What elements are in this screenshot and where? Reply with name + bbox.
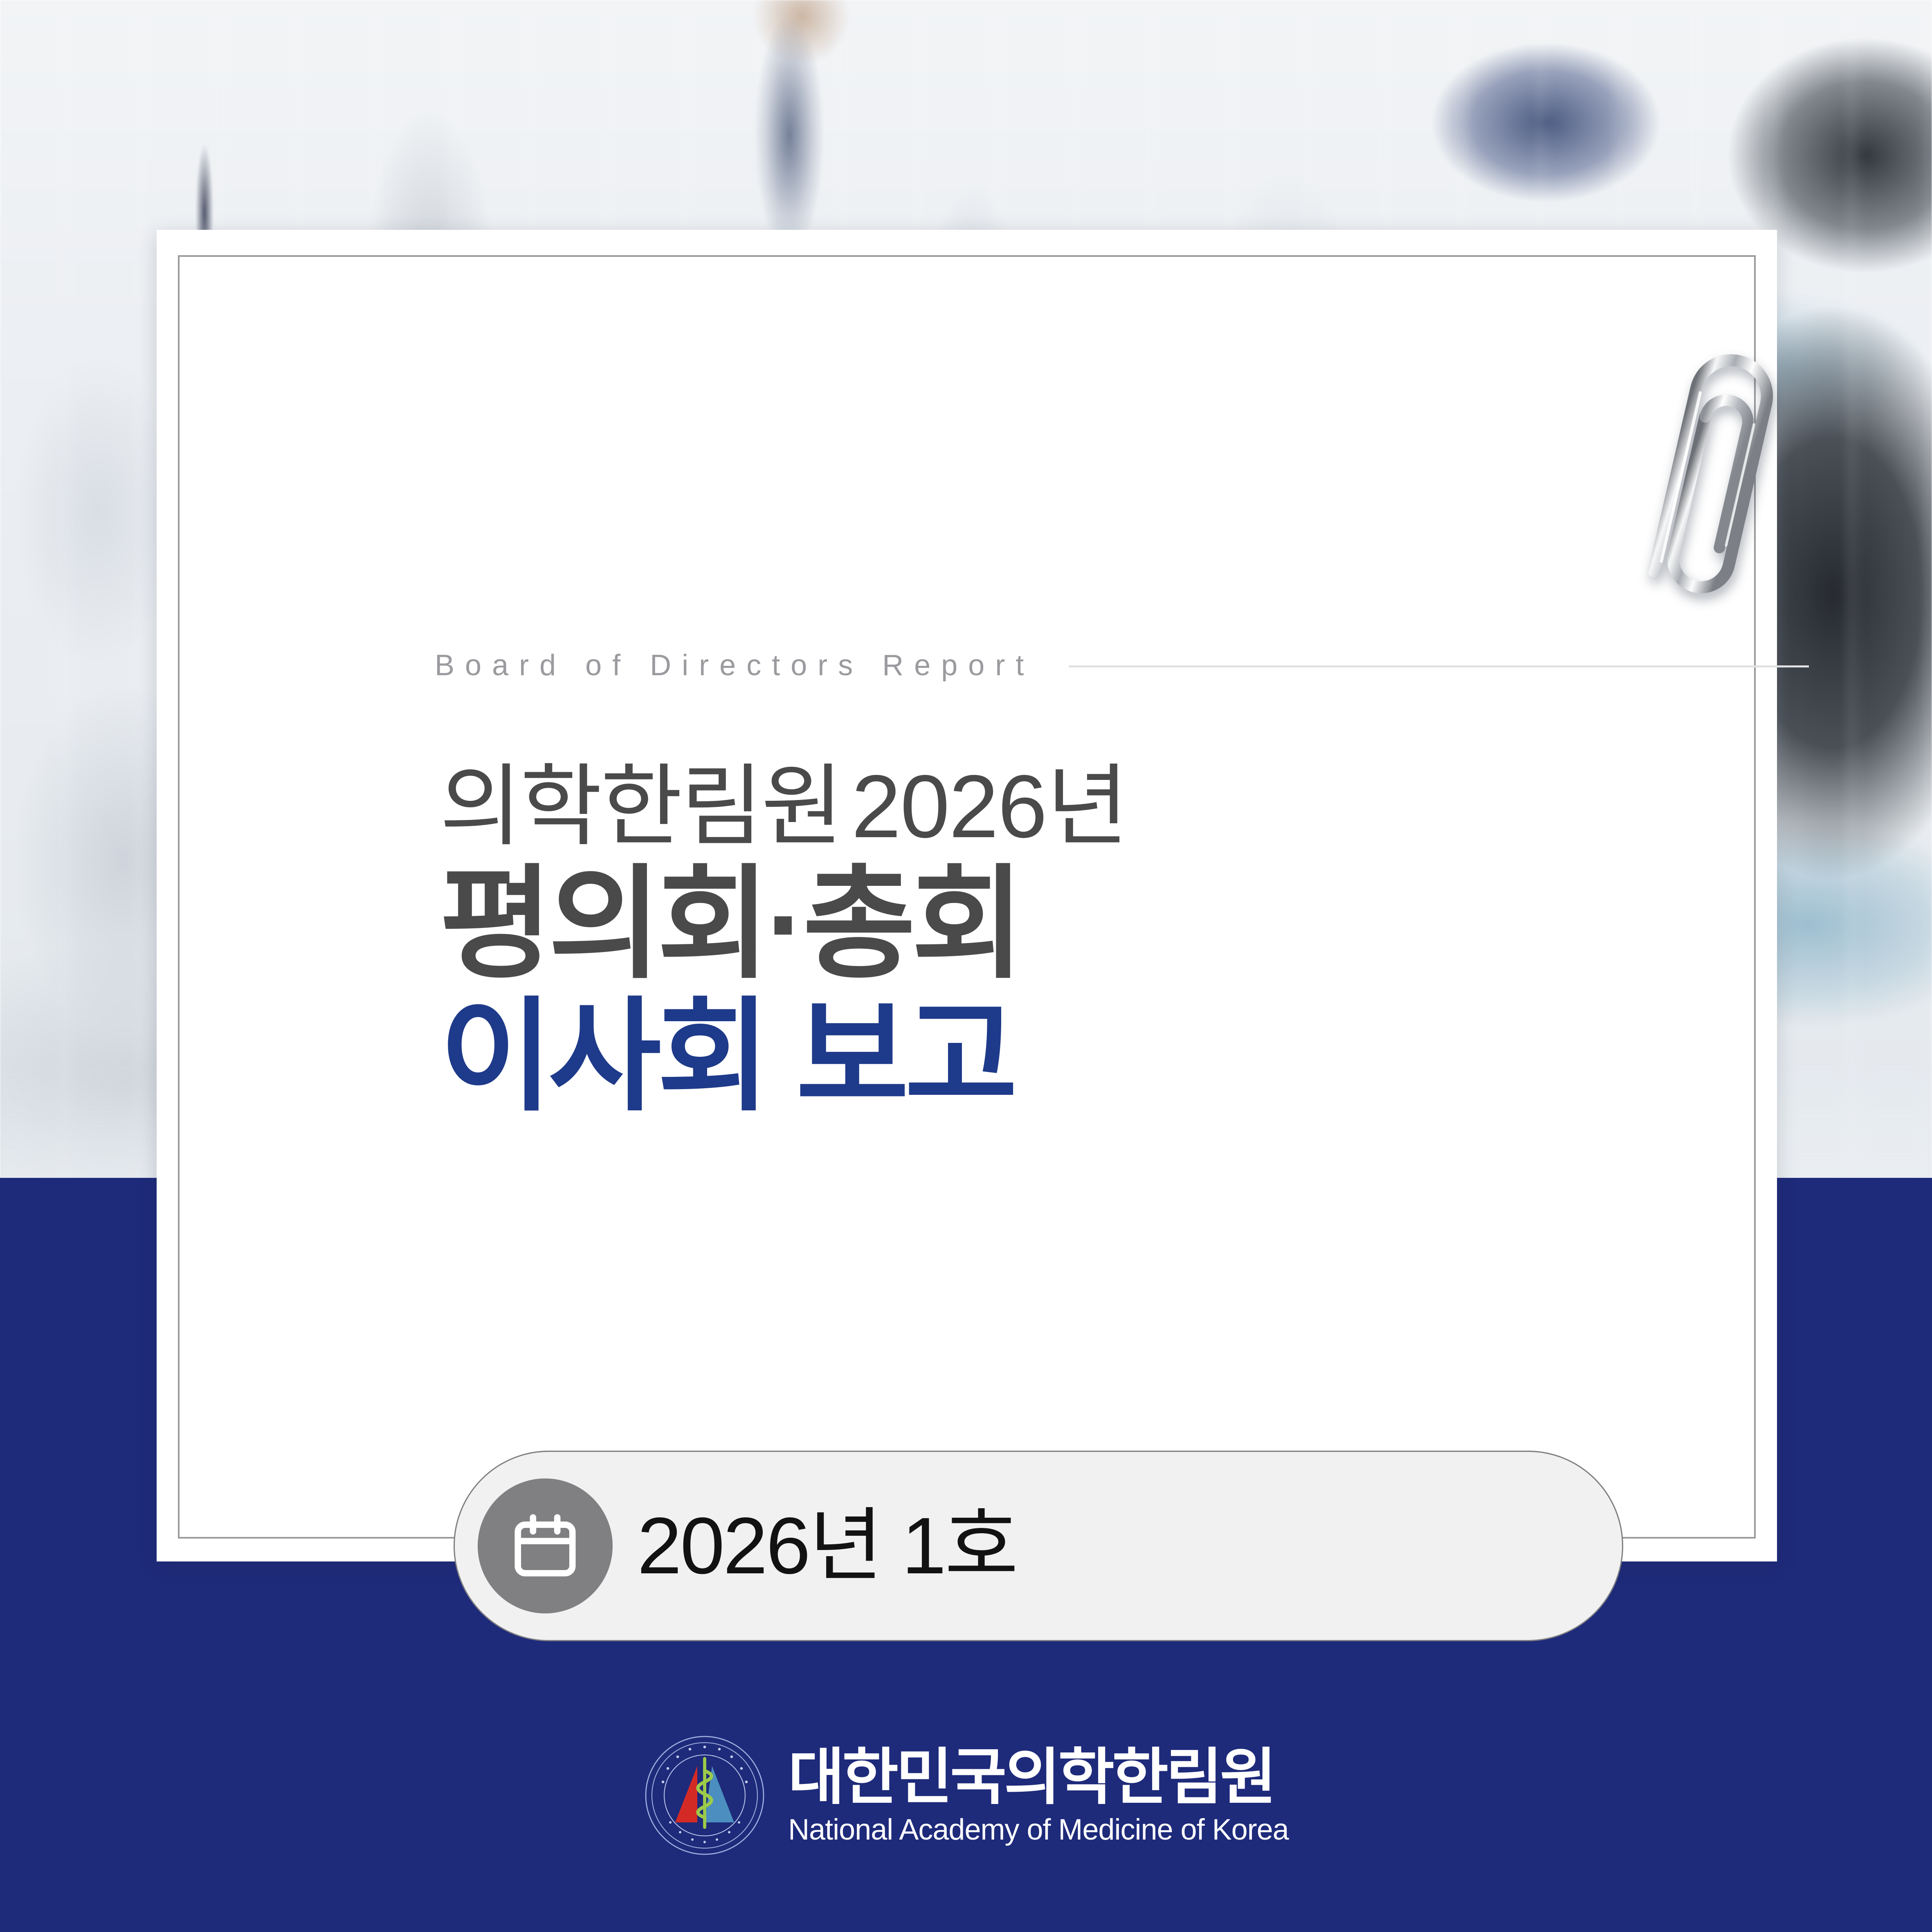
footer-text-group: 대한민국의학한림원 National Academy of Medicine o… (788, 1746, 1289, 1844)
issue-badge[interactable]: 2026년 1호 (454, 1451, 1623, 1641)
page-title: 의학한림원2026년 평의회·총회 이사회 보고 (440, 762, 1789, 1121)
footer: 대한민국의학한림원 National Academy of Medicine o… (0, 1689, 1932, 1902)
nam-korea-emblem-icon (643, 1734, 766, 1857)
issue-badge-label: 2026년 1호 (637, 1506, 1017, 1586)
eyebrow-divider (1069, 665, 1809, 667)
eyebrow: Board of Directors Report (435, 643, 1809, 688)
headline-line-1: 의학한림원2026년 (440, 762, 1789, 852)
poster-canvas: Board of Directors Report 의학한림원2026년 평의회… (0, 0, 1932, 1932)
footer-subtitle-en: National Academy of Medicine of Korea (788, 1815, 1289, 1844)
report-card: Board of Directors Report 의학한림원2026년 평의회… (157, 230, 1777, 1561)
headline-line-2: 평의회·총회 (440, 859, 1789, 989)
headline-line-3: 이사회 보고 (440, 991, 1789, 1121)
headline-year: 2026년 (842, 757, 1128, 856)
eyebrow-label: Board of Directors Report (435, 651, 1034, 680)
headline-org: 의학한림원 (440, 757, 842, 856)
calendar-icon (478, 1478, 613, 1613)
footer-title-ko: 대한민국의학한림원 (788, 1746, 1289, 1808)
